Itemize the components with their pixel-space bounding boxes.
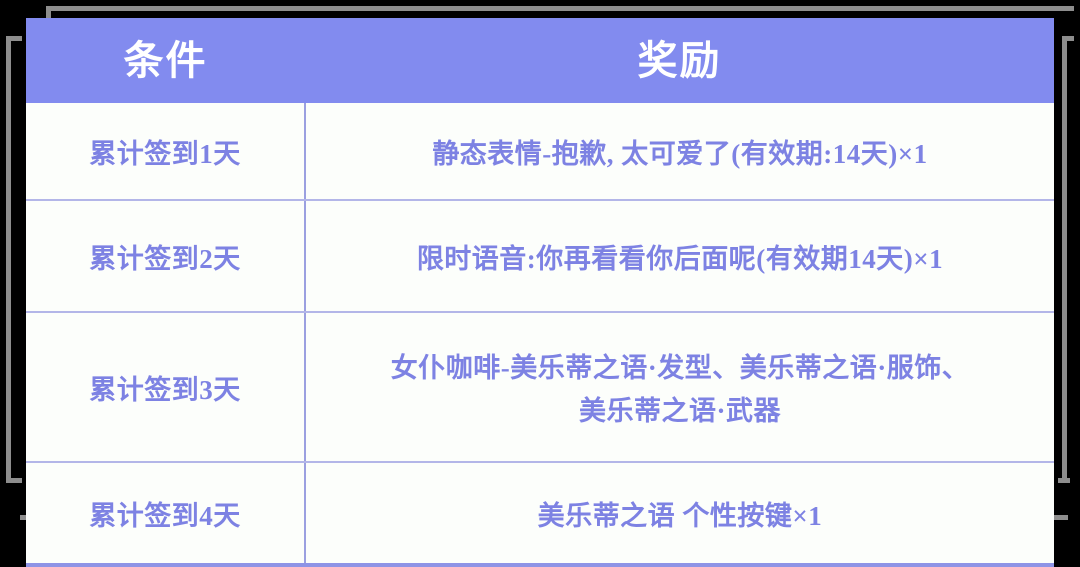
cell-condition: 累计签到2天	[26, 200, 305, 312]
frame-corner-top-right	[1062, 36, 1074, 41]
column-header-reward: 奖励	[305, 18, 1054, 103]
frame-rule-left	[6, 40, 11, 482]
frame-corner-top-left	[6, 36, 22, 41]
frame-rule-right	[1062, 40, 1067, 482]
reward-line: 美乐蒂之语·武器	[316, 389, 1044, 428]
reward-line: 限时语音:你再看看你后面呢(有效期14天)×1	[316, 237, 1044, 276]
reward-line: 美乐蒂之语 个性按键×1	[316, 494, 1044, 533]
table-header: 条件 奖励	[26, 18, 1054, 103]
table-row: 累计签到1天 静态表情-抱歉, 太可爱了(有效期:14天)×1	[26, 103, 1054, 200]
cell-condition: 累计签到3天	[26, 312, 305, 462]
frame-corner-bottom-right	[1058, 478, 1070, 483]
cell-reward: 静态表情-抱歉, 太可爱了(有效期:14天)×1	[305, 103, 1054, 200]
table-header-row: 条件 奖励	[26, 18, 1054, 103]
cell-reward: 美乐蒂之语 个性按键×1	[305, 462, 1054, 565]
cell-condition: 累计签到4天	[26, 462, 305, 565]
table-row: 累计签到4天 美乐蒂之语 个性按键×1	[26, 462, 1054, 565]
page-canvas: 条件 奖励 累计签到1天 静态表情-抱歉, 太可爱了(有效期:14天)×1 累计…	[0, 0, 1080, 555]
frame-corner-bottom-left	[6, 478, 22, 483]
reward-line: 女仆咖啡-美乐蒂之语·发型、美乐蒂之语·服饰、	[316, 346, 1044, 385]
column-header-condition: 条件	[26, 18, 305, 103]
reward-table: 条件 奖励 累计签到1天 静态表情-抱歉, 太可爱了(有效期:14天)×1 累计…	[26, 18, 1054, 567]
cell-condition: 累计签到1天	[26, 103, 305, 200]
frame-rule-top	[48, 6, 1074, 11]
table-row: 累计签到3天 女仆咖啡-美乐蒂之语·发型、美乐蒂之语·服饰、 美乐蒂之语·武器	[26, 312, 1054, 462]
table-body: 累计签到1天 静态表情-抱歉, 太可爱了(有效期:14天)×1 累计签到2天 限…	[26, 103, 1054, 565]
cell-reward: 限时语音:你再看看你后面呢(有效期14天)×1	[305, 200, 1054, 312]
table-row: 累计签到2天 限时语音:你再看看你后面呢(有效期14天)×1	[26, 200, 1054, 312]
reward-line: 静态表情-抱歉, 太可爱了(有效期:14天)×1	[316, 132, 1044, 171]
cell-reward: 女仆咖啡-美乐蒂之语·发型、美乐蒂之语·服饰、 美乐蒂之语·武器	[305, 312, 1054, 462]
